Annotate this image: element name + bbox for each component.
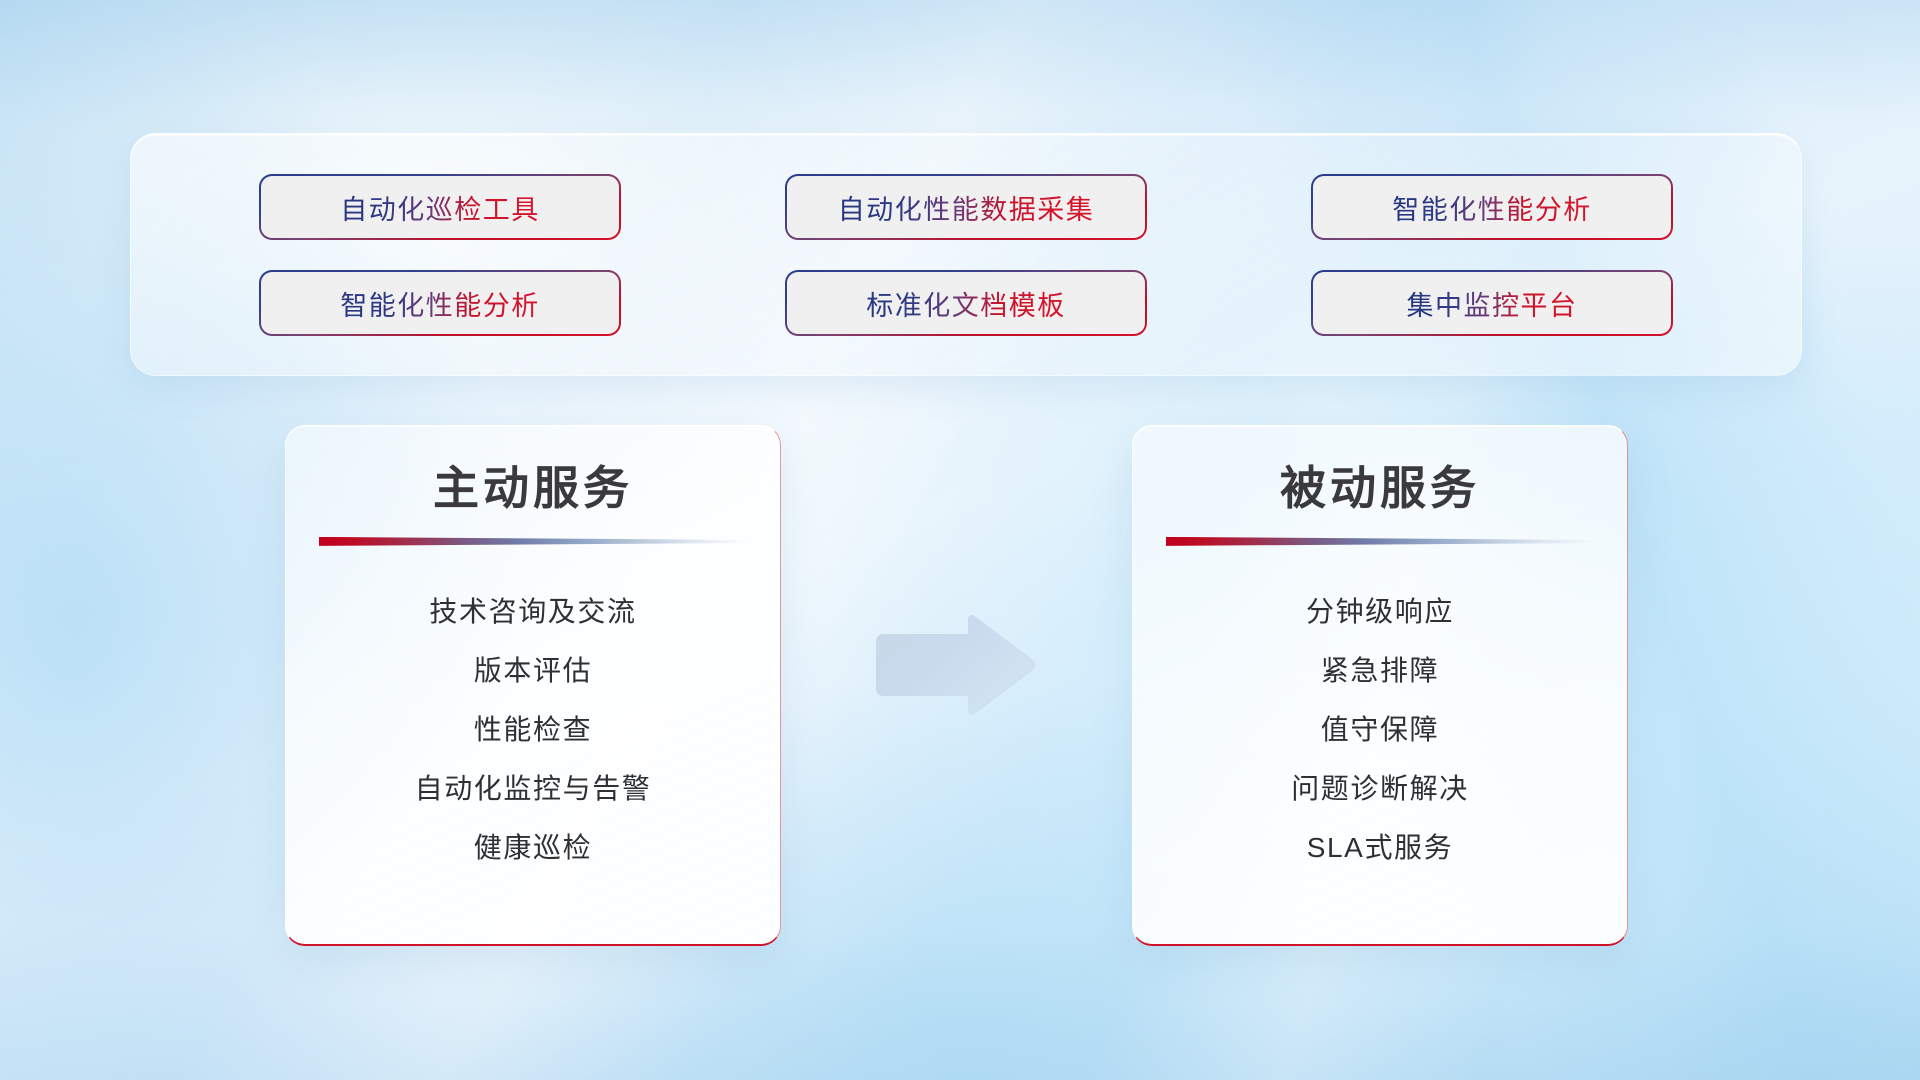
capabilities-panel: 自动化巡检工具 自动化性能数据采集 智能化性能分析 智能化性能分析 标准化文档模… <box>130 133 1802 376</box>
slide-canvas: 自动化巡检工具 自动化性能数据采集 智能化性能分析 智能化性能分析 标准化文档模… <box>0 0 1920 1080</box>
list-item[interactable]: 分钟级响应 <box>1306 582 1454 641</box>
list-item[interactable]: 技术咨询及交流 <box>429 582 636 641</box>
capability-pill-label: 智能化性能分析 <box>1392 188 1592 227</box>
reactive-service-list: 分钟级响应 紧急排障 值守保障 问题诊断解决 SLA式服务 <box>1133 582 1627 877</box>
capability-pill-label: 集中监控平台 <box>1407 284 1578 323</box>
capability-pill-label: 自动化巡检工具 <box>340 188 540 227</box>
capability-pill-label: 标准化文档模板 <box>866 284 1066 323</box>
list-item[interactable]: 问题诊断解决 <box>1291 759 1469 818</box>
capability-pill-label: 智能化性能分析 <box>340 284 540 323</box>
capabilities-grid: 自动化巡检工具 自动化性能数据采集 智能化性能分析 智能化性能分析 标准化文档模… <box>131 135 1801 375</box>
arrow-right-icon <box>872 612 1038 718</box>
capability-pill-intelligent-performance-analysis[interactable]: 智能化性能分析 <box>1313 176 1671 238</box>
list-item[interactable]: 性能检查 <box>474 700 592 759</box>
list-item[interactable]: 紧急排障 <box>1321 641 1439 700</box>
list-item[interactable]: 自动化监控与告警 <box>415 759 652 818</box>
list-item[interactable]: 版本评估 <box>474 641 592 700</box>
capability-pill-automated-inspection-tool[interactable]: 自动化巡检工具 <box>261 176 619 238</box>
capability-pill-centralized-monitoring-platform[interactable]: 集中监控平台 <box>1313 272 1671 334</box>
proactive-service-list: 技术咨询及交流 版本评估 性能检查 自动化监控与告警 健康巡检 <box>286 582 780 877</box>
list-item[interactable]: 健康巡检 <box>474 818 592 877</box>
divider-gradient-bar <box>319 537 747 546</box>
proactive-service-card: 主动服务 技术咨询及交流 版本评估 性能检查 自动化监控与告警 健康巡检 <box>285 425 781 946</box>
reactive-service-card: 被动服务 分钟级响应 紧急排障 值守保障 问题诊断解决 SLA式服务 <box>1132 425 1628 946</box>
reactive-title-divider <box>1166 537 1594 546</box>
capability-pill-standardized-doc-template[interactable]: 标准化文档模板 <box>787 272 1145 334</box>
capability-pill-automated-performance-collection[interactable]: 自动化性能数据采集 <box>787 176 1145 238</box>
list-item[interactable]: 值守保障 <box>1321 700 1439 759</box>
list-item[interactable]: SLA式服务 <box>1307 818 1454 877</box>
capability-pill-label: 自动化性能数据采集 <box>838 188 1095 227</box>
proactive-service-title: 主动服务 <box>286 462 780 515</box>
capability-pill-intelligent-performance-analysis-2[interactable]: 智能化性能分析 <box>261 272 619 334</box>
reactive-service-title: 被动服务 <box>1133 462 1627 515</box>
proactive-title-divider <box>319 537 747 546</box>
divider-gradient-bar <box>1166 537 1594 546</box>
